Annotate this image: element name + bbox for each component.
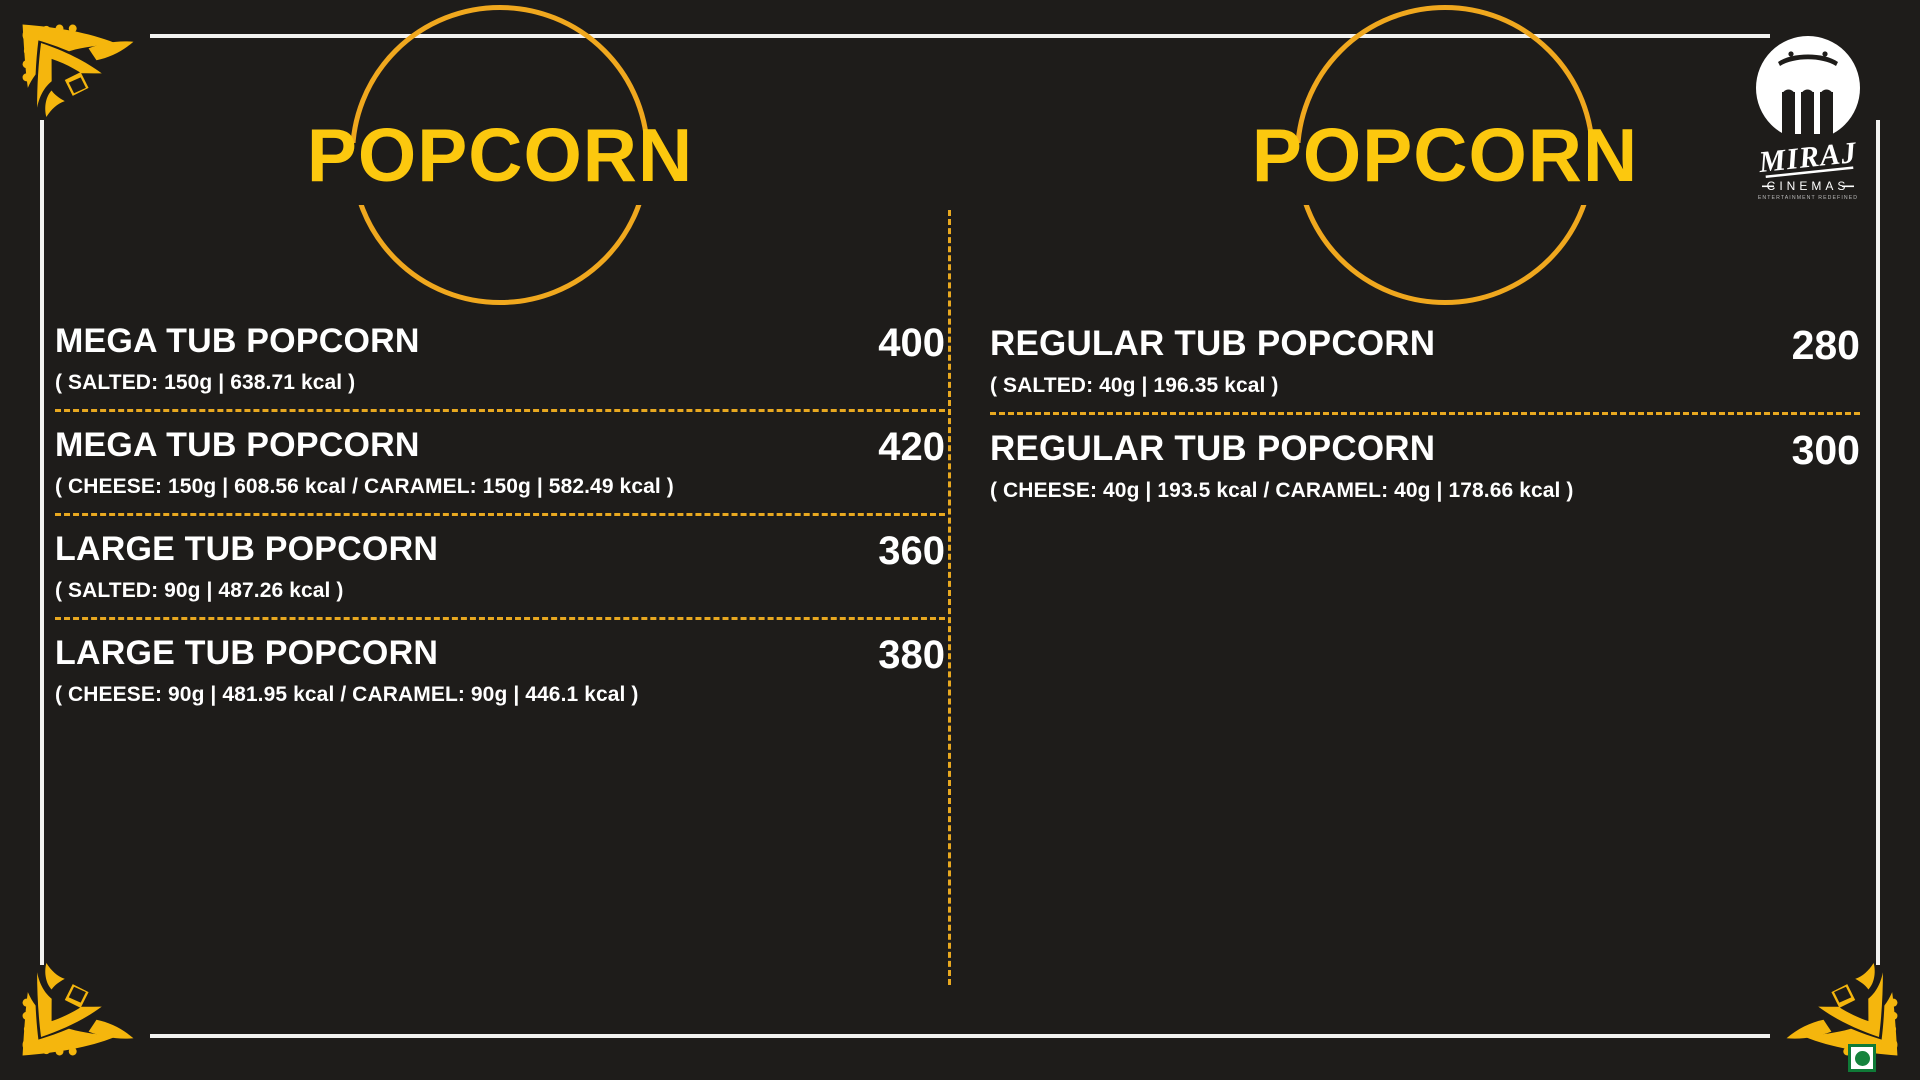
item-name: MEGA TUB POPCORN [55,426,420,464]
item-name: REGULAR TUB POPCORN [990,429,1435,468]
menu-item[interactable]: LARGE TUB POPCORN 380 ( CHEESE: 90g | 48… [55,634,945,707]
menu-list-left: MEGA TUB POPCORN 400 ( SALTED: 150g | 63… [55,310,945,707]
item-name: REGULAR TUB POPCORN [990,324,1435,363]
item-price: 280 [1792,324,1860,367]
item-separator [55,409,945,412]
section-title: POPCORN [1252,112,1638,198]
menu-item[interactable]: REGULAR TUB POPCORN 280 ( SALTED: 40g | … [990,324,1860,398]
column-header-left: POPCORN [55,0,945,310]
menu-list-right: REGULAR TUB POPCORN 280 ( SALTED: 40g | … [990,310,1860,503]
item-name: MEGA TUB POPCORN [55,322,420,360]
item-description: ( CHEESE: 90g | 481.95 kcal / CARAMEL: 9… [55,683,945,707]
veg-indicator-icon [1848,1044,1876,1072]
item-name: LARGE TUB POPCORN [55,530,438,568]
menu-column-left: POPCORN MEGA TUB POPCORN 400 ( SALTED: 1… [0,0,955,1080]
item-description: ( CHEESE: 150g | 608.56 kcal / CARAMEL: … [55,475,945,499]
item-separator [55,617,945,620]
item-price: 400 [878,322,945,364]
menu-board: MIRAJ CINEMAS ENTERTAINMENT REDEFINED PO… [0,0,1920,1080]
item-description: ( SALTED: 90g | 487.26 kcal ) [55,579,945,603]
item-price: 380 [878,634,945,676]
item-separator [55,513,945,516]
item-name: LARGE TUB POPCORN [55,634,438,672]
item-separator [990,412,1860,415]
menu-item[interactable]: LARGE TUB POPCORN 360 ( SALTED: 90g | 48… [55,530,945,603]
menu-column-right: POPCORN REGULAR TUB POPCORN 280 ( SALTED… [955,0,1920,1080]
item-description: ( SALTED: 40g | 196.35 kcal ) [990,374,1860,398]
menu-item[interactable]: MEGA TUB POPCORN 400 ( SALTED: 150g | 63… [55,322,945,395]
item-price: 300 [1792,429,1860,472]
item-price: 360 [878,530,945,572]
section-title: POPCORN [307,112,693,198]
item-price: 420 [878,426,945,468]
column-header-right: POPCORN [990,0,1860,310]
item-description: ( CHEESE: 40g | 193.5 kcal / CARAMEL: 40… [990,479,1860,503]
item-description: ( SALTED: 150g | 638.71 kcal ) [55,371,945,395]
menu-item[interactable]: MEGA TUB POPCORN 420 ( CHEESE: 150g | 60… [55,426,945,499]
menu-item[interactable]: REGULAR TUB POPCORN 300 ( CHEESE: 40g | … [990,429,1860,503]
veg-dot [1855,1051,1870,1066]
